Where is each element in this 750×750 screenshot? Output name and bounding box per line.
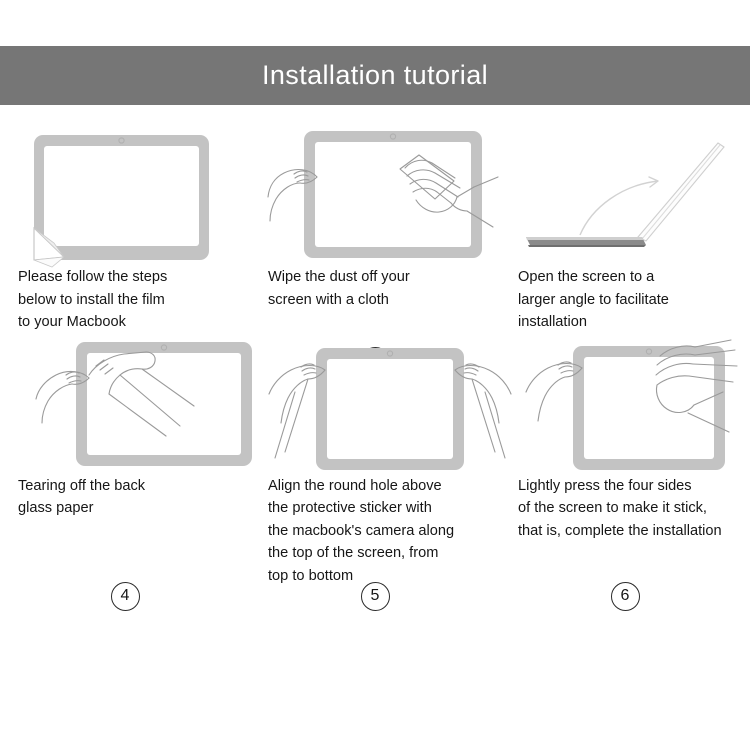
step-2-illustration	[268, 125, 482, 260]
tablet-with-peeling-film-corner-icon	[18, 125, 232, 260]
tutorial-header-bar: Installation tutorial	[0, 46, 750, 105]
step-4-number-wrap: 4	[0, 582, 250, 611]
tablet-held-by-two-hands-icon	[268, 334, 518, 469]
step-card-2: Wipe the dust off your screen with a clo…	[250, 125, 500, 334]
step-number-badge-5: 5	[361, 582, 390, 611]
step-card-4: Tearing off the back glass paper 4	[0, 334, 250, 588]
page-title: Installation tutorial	[262, 62, 488, 89]
tablet-with-hand-peeling-backing-icon	[18, 334, 248, 469]
step-2-text: Wipe the dust off your screen with a clo…	[268, 266, 482, 311]
step-3-text: Open the screen to a larger angle to fac…	[518, 266, 732, 334]
step-5-illustration	[268, 334, 482, 469]
tablet-with-hand-wiping-cloth-icon	[268, 125, 508, 260]
step-number-badge-6: 6	[611, 582, 640, 611]
step-card-5: Align the round hole above the protectiv…	[250, 334, 500, 588]
step-6-illustration	[518, 334, 732, 469]
step-number-badge-4: 4	[111, 582, 140, 611]
laptop-side-profile-opening-arrow-icon	[518, 125, 744, 260]
step-4-illustration	[18, 334, 232, 469]
step-4-text: Tearing off the back glass paper	[18, 475, 232, 520]
step-card-6: Lightly press the four sides of the scre…	[500, 334, 750, 588]
step-6-number-wrap: 6	[500, 582, 750, 611]
step-3-illustration	[518, 125, 732, 260]
tablet-with-hand-pressing-screen-icon	[518, 334, 750, 469]
step-1-text: Please follow the steps below to install…	[18, 266, 232, 334]
step-1-illustration	[18, 125, 232, 260]
step-card-1: Please follow the steps below to install…	[0, 125, 250, 334]
tutorial-steps-grid: Please follow the steps below to install…	[0, 125, 750, 587]
step-card-3: Open the screen to a larger angle to fac…	[500, 125, 750, 334]
step-5-number-wrap: 5	[250, 582, 500, 611]
step-5-text: Align the round hole above the protectiv…	[268, 475, 482, 588]
step-6-text: Lightly press the four sides of the scre…	[518, 475, 732, 543]
